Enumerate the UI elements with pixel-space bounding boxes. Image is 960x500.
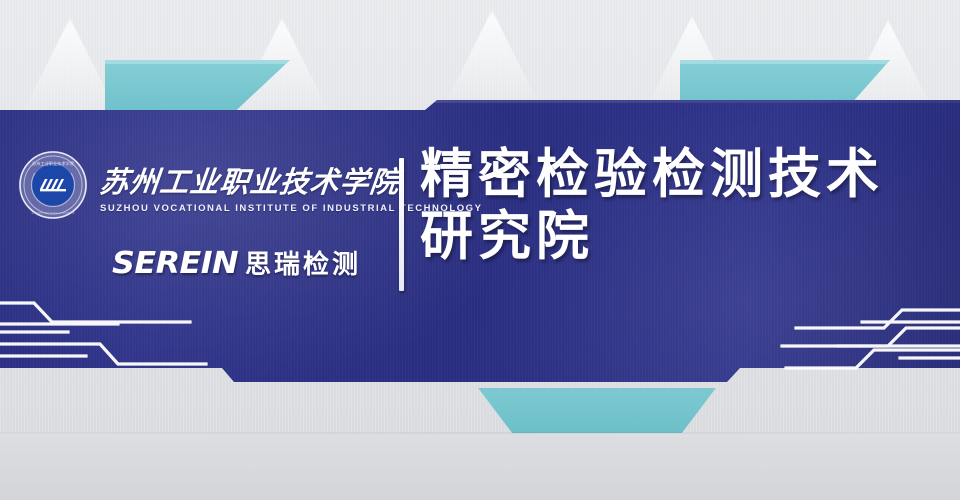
accent-top-right-highlight [680, 60, 890, 64]
floor [0, 433, 960, 500]
accent-top-left-highlight [105, 60, 290, 64]
university-crest-icon: 苏州工业职业技术学院 SUZHOU VOCATIONAL INSTITUTE [16, 148, 90, 222]
vertical-divider [399, 158, 404, 291]
signage-scene: 苏州工业职业技术学院 SUZHOU VOCATIONAL INSTITUTE 苏… [0, 0, 960, 500]
partner-brand-en: SEREIN [112, 246, 238, 281]
signboard-content: 苏州工业职业技术学院 SUZHOU VOCATIONAL INSTITUTE 苏… [0, 100, 960, 388]
institute-title: 精密检验检测技术 研究院 [420, 144, 950, 268]
institute-title-line-2: 研究院 [420, 206, 950, 268]
partner-identity: SEREIN 思瑞检测 [112, 244, 396, 281]
institute-title-line-1: 精密检验检测技术 [420, 144, 950, 206]
university-identity: 苏州工业职业技术学院 SUZHOU VOCATIONAL INSTITUTE 苏… [16, 148, 396, 222]
svg-text:SUZHOU VOCATIONAL INSTITUTE: SUZHOU VOCATIONAL INSTITUTE [32, 211, 75, 215]
floor-seam [0, 432, 960, 434]
partner-brand-cn: 思瑞检测 [245, 244, 361, 281]
svg-text:苏州工业职业技术学院: 苏州工业职业技术学院 [32, 160, 75, 167]
brand-block: 苏州工业职业技术学院 SUZHOU VOCATIONAL INSTITUTE 苏… [16, 148, 396, 281]
